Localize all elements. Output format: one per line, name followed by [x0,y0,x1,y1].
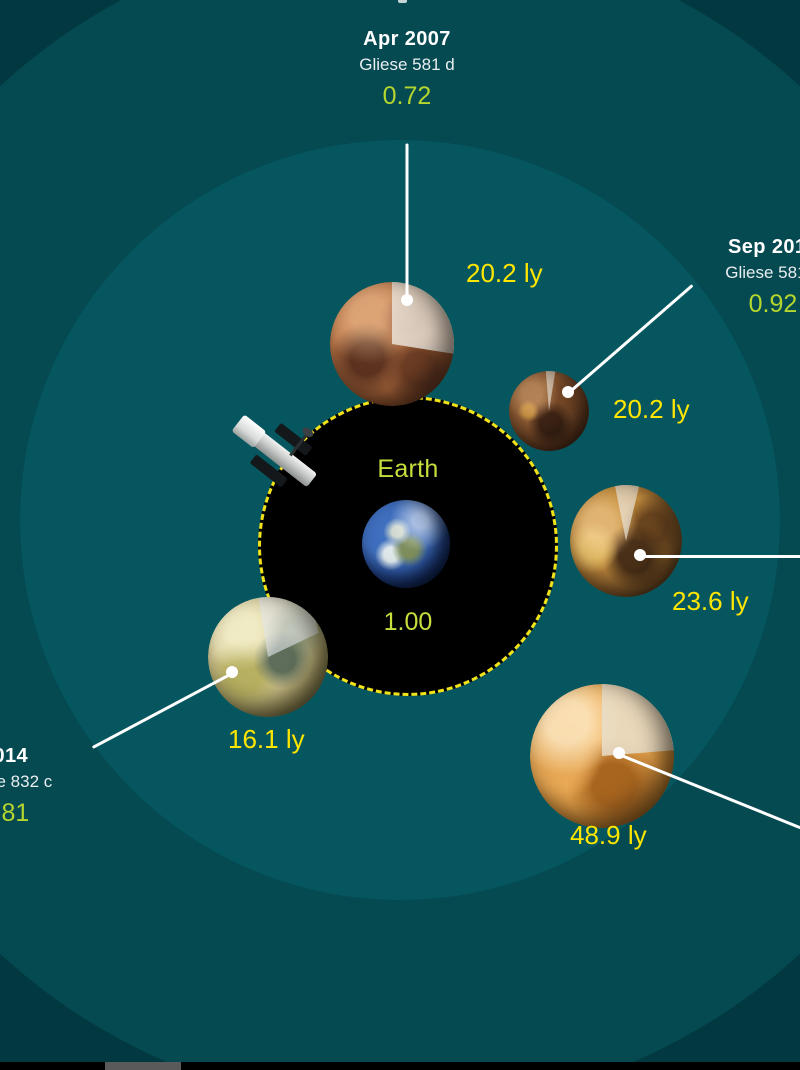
earth-globe-icon [362,500,450,588]
distance-label-gliese-581-g: 20.2 ly [613,394,690,425]
leader-dot-gliese-581-g [562,386,574,398]
leader-dot-gliese-581-d [401,294,413,306]
horizontal-scrollbar-thumb[interactable] [105,1062,181,1070]
callout-gliese-581-d: Apr 2007 Gliese 581 d 0.72 [282,28,532,111]
callout-planet-name: Gliese 832 c [0,772,130,792]
planet-shading [530,684,674,828]
planet-shading [570,485,682,597]
planet-right[interactable] [570,485,682,597]
distance-label-planet-right: 23.6 ly [672,586,749,617]
planet-gliese-581-d[interactable] [330,282,454,406]
planet-bottom-right[interactable] [530,684,674,828]
leader-dot-gliese-832-c [226,666,238,678]
distance-label-planet-bottom-right: 48.9 ly [570,820,647,851]
callout-gliese-581-g: Sep 2010 Gliese 581 g 0.92 [648,236,800,319]
callout-esi-value: 0.92 [648,290,800,319]
planet-gliese-832-c[interactable] [208,597,328,717]
callout-esi-value: 0.72 [282,82,532,111]
callout-planet-name: Gliese 581 d [282,55,532,75]
leader-line-planet-right [640,555,800,558]
callout-planet-name: Gliese 581 g [648,263,800,283]
distance-label-gliese-581-d: 20.2 ly [466,258,543,289]
callout-year: 2014 [0,745,130,768]
callout-year: Apr 2007 [282,28,532,51]
callout-year: Sep 2010 [648,236,800,259]
distance-label-gliese-832-c: 16.1 ly [228,724,305,755]
leader-dot-planet-bottom-right [613,747,625,759]
leader-dot-planet-right [634,549,646,561]
cropped-glyph-top [398,0,407,3]
planet-shading [208,597,328,717]
callout-gliese-832-c: 2014 Gliese 832 c 0.81 [0,745,130,828]
callout-esi-value: 0.81 [0,799,130,828]
planet-shading [330,282,454,406]
leader-line-gliese-581-d [406,144,409,302]
infographic-canvas: Earth 1.00 Apr 2007 Gliese 581 d 0.72 20… [0,0,800,1062]
